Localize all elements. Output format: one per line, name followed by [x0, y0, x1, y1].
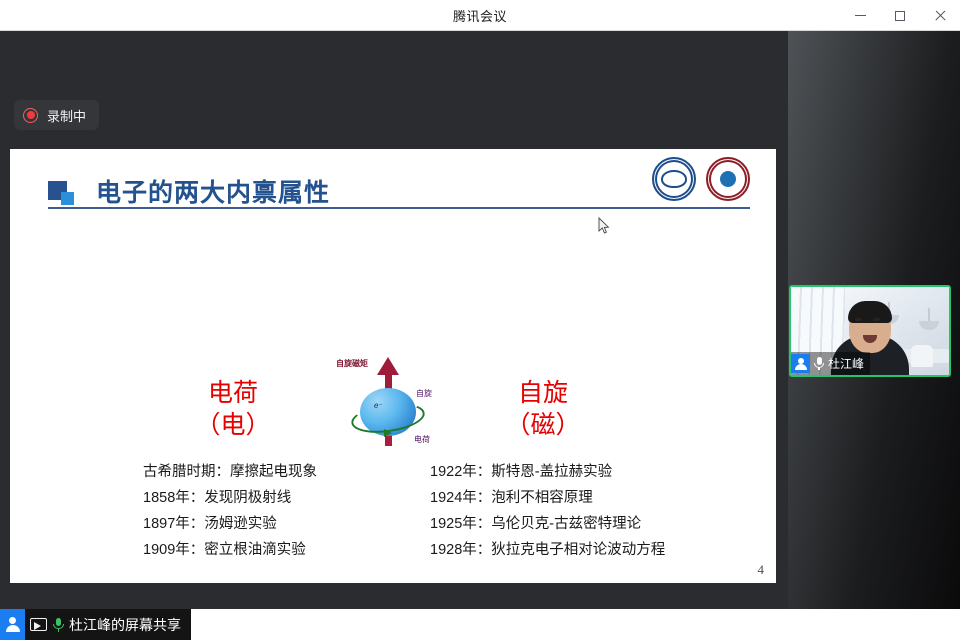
heading-spin-line2: （磁） — [448, 409, 638, 441]
minimize-button[interactable] — [840, 0, 880, 31]
list-item: 1922年：斯特恩-盖拉赫实验 — [430, 459, 665, 485]
slide-page-number: 4 — [758, 562, 765, 578]
screen-share-label: 杜江峰的屏幕共享 — [69, 615, 181, 635]
recording-badge[interactable]: 录制中 — [14, 100, 99, 130]
pendant-lamp-icon — [919, 321, 939, 330]
heading-spin: 自旋 （磁） — [448, 377, 638, 441]
heading-charge: 电荷 （电） — [138, 377, 328, 441]
participant-video-tile[interactable]: 杜江峰 — [789, 285, 951, 377]
participant-name: 杜江峰 — [828, 355, 864, 372]
slide-title-divider — [48, 207, 750, 209]
shared-slide[interactable]: 电子的两大内禀属性 电荷 （电） e⁻ 自旋磁矩 自旋 — [10, 149, 776, 583]
minimize-icon — [855, 15, 866, 17]
list-item: 1928年：狄拉克电子相对论波动方程 — [430, 537, 665, 563]
bottom-share-bar: 杜江峰的屏幕共享 — [0, 609, 960, 640]
spin-label: 自旋 — [416, 388, 432, 399]
recording-dot-icon — [23, 108, 38, 123]
slide-title: 电子的两大内禀属性 — [96, 173, 330, 209]
close-icon — [934, 10, 946, 22]
meeting-stage: 录制中 电子的两大内禀属性 电荷 （电） — [0, 31, 960, 609]
maximize-button[interactable] — [880, 0, 920, 31]
video-name-label: 杜江峰 — [791, 352, 870, 375]
list-item: 1858年：发现阴极射线 — [143, 485, 317, 511]
avatar-icon — [0, 609, 25, 640]
list-item: 1925年：乌伦贝克-古兹密特理论 — [430, 511, 665, 537]
window-title: 腾讯会议 — [453, 6, 507, 25]
list-item: 古希腊时期：摩擦起电现象 — [143, 459, 317, 485]
avatar-icon — [791, 354, 810, 373]
university-logo-icon — [652, 157, 696, 201]
screen-share-icon — [30, 618, 47, 631]
heading-charge-line2: （电） — [138, 409, 328, 441]
microphone-icon[interactable] — [52, 617, 65, 633]
window-titlebar: 腾讯会议 — [0, 0, 960, 31]
window-controls — [840, 0, 960, 31]
electron-spin-diagram: e⁻ 自旋磁矩 自旋 电荷 — [332, 352, 444, 452]
timeline-column-charge: 古希腊时期：摩擦起电现象 1858年：发现阴极射线 1897年：汤姆逊实验 19… — [143, 459, 317, 563]
chair-decoration — [911, 345, 933, 367]
person-eye — [873, 318, 880, 321]
square-bullet-icon — [48, 181, 76, 207]
charge-label: 电荷 — [414, 434, 430, 445]
institute-logo-icon — [706, 157, 750, 201]
close-button[interactable] — [920, 0, 960, 31]
heading-spin-line1: 自旋 — [448, 377, 638, 409]
list-item: 1909年：密立根油滴实验 — [143, 537, 317, 563]
microphone-icon[interactable] — [813, 356, 825, 371]
recording-label: 录制中 — [47, 106, 86, 125]
list-item: 1924年：泡利不相容原理 — [430, 485, 665, 511]
orbit-arrow-icon — [384, 429, 392, 437]
spin-magnetic-moment-label: 自旋磁矩 — [336, 358, 368, 369]
electron-symbol-label: e⁻ — [374, 401, 383, 410]
slide-header: 电子的两大内禀属性 — [48, 167, 750, 225]
slide-logos — [652, 157, 750, 201]
screen-share-indicator[interactable]: 杜江峰的屏幕共享 — [0, 609, 191, 640]
list-item: 1897年：汤姆逊实验 — [143, 511, 317, 537]
person-eye — [855, 318, 862, 321]
maximize-icon — [895, 11, 905, 21]
tencent-meeting-window: 腾讯会议 录制中 电子的两大内禀属性 — [0, 0, 960, 640]
heading-charge-line1: 电荷 — [138, 377, 328, 409]
timeline-column-spin: 1922年：斯特恩-盖拉赫实验 1924年：泡利不相容原理 1925年：乌伦贝克… — [430, 459, 665, 563]
